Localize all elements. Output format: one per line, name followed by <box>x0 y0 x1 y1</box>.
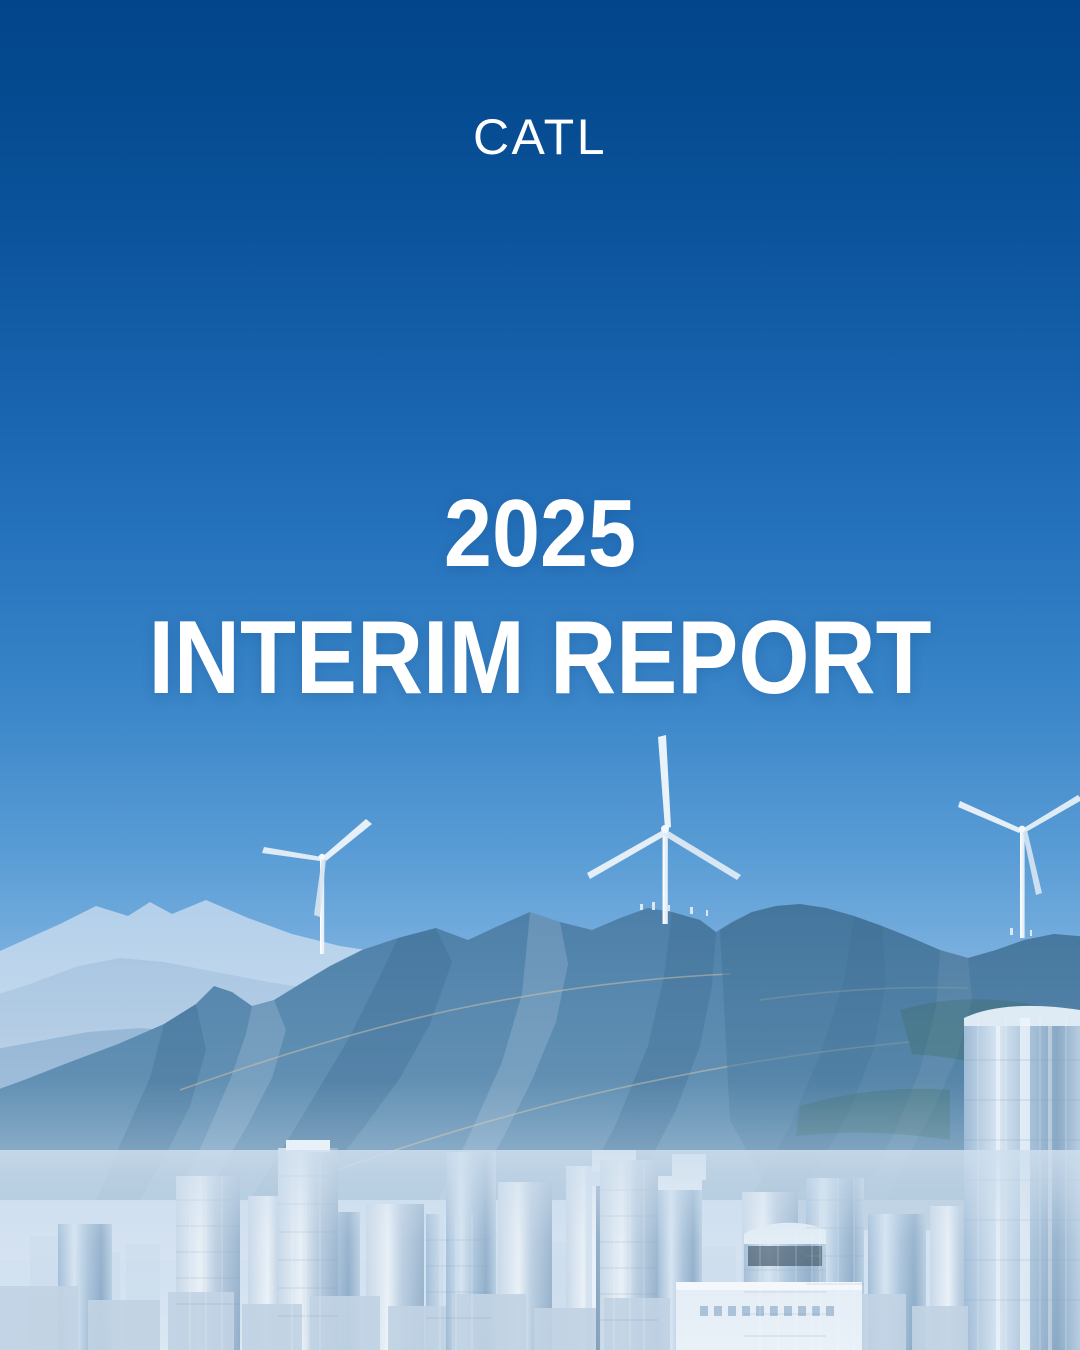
report-cover: CATL 2025 INTERIM REPORT <box>0 0 1080 1350</box>
report-year: 2025 <box>54 486 1026 582</box>
catl-logo: CATL <box>0 112 1080 162</box>
report-title: INTERIM REPORT <box>65 606 1015 710</box>
cover-title-block: 2025 INTERIM REPORT <box>0 486 1080 710</box>
wind-turbine-right <box>958 795 1080 938</box>
wind-turbine-center <box>587 735 741 924</box>
